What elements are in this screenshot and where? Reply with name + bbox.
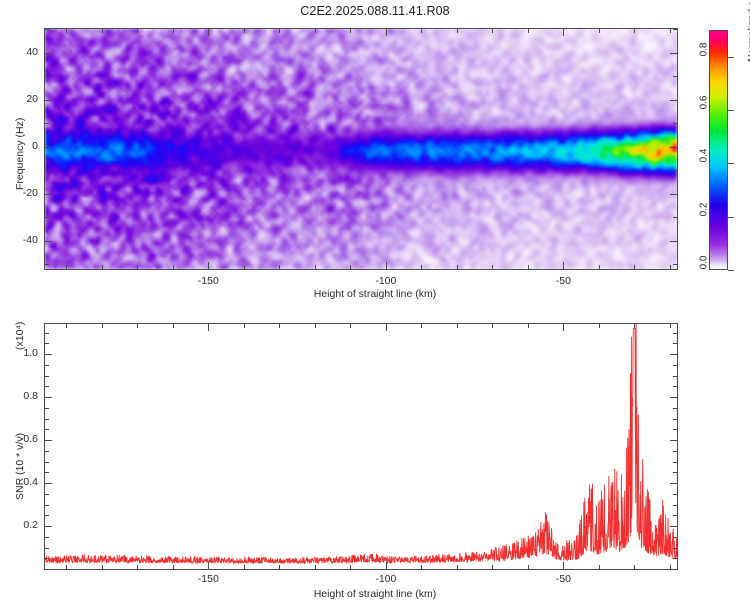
snr-y-tick-label: 0.8 <box>4 390 38 402</box>
colorbar-tick-label: 0.4 <box>699 149 710 175</box>
snr-y-tick-right <box>673 515 677 516</box>
spectrogram-x-tick-label: -150 <box>178 275 238 287</box>
snr-x-tick-label: -50 <box>533 573 593 585</box>
snr-x-tick <box>457 565 458 569</box>
snr-y-tick <box>45 386 49 387</box>
snr-x-tick <box>599 565 600 569</box>
spectrogram-y-tick <box>45 53 52 54</box>
snr-x-tick <box>208 562 209 569</box>
snr-plot-svg <box>45 324 677 569</box>
spectrogram-x-tick-top <box>421 29 422 33</box>
spectrogram-x-tick-label: -100 <box>356 275 416 287</box>
spectrogram-x-tick-top <box>137 29 138 33</box>
colorbar-tick <box>728 163 734 164</box>
spectrogram-canvas <box>45 29 677 269</box>
snr-y-tick <box>45 343 49 344</box>
spectrogram-y-tick <box>45 170 49 171</box>
spectrogram-y-tick-right <box>670 53 677 54</box>
spectrogram-x-tick-top <box>279 29 280 33</box>
spectrogram-y-tick <box>45 76 49 77</box>
snr-y-tick-right <box>673 343 677 344</box>
snr-y-tick-right <box>670 526 677 527</box>
snr-y-tick-right <box>673 451 677 452</box>
snr-x-tick <box>670 565 671 569</box>
snr-x-tick <box>279 565 280 569</box>
spectrogram-x-tick <box>670 265 671 269</box>
colorbar-tick-label: 0.6 <box>699 96 710 122</box>
spectrogram-x-tick <box>350 265 351 269</box>
snr-y-tick <box>45 440 52 441</box>
snr-x-tick <box>563 562 564 569</box>
snr-x-tick <box>528 565 529 569</box>
spectrogram-y-tick-right <box>673 170 677 171</box>
colorbar-tick-label: 0.0 <box>699 256 710 282</box>
colorbar-title: Normalized spectral amplitude <box>746 0 750 62</box>
figure-root: C2E2.2025.088.11.41.R08 -150-100-50 -40-… <box>0 0 750 600</box>
spectrogram-y-tick-right <box>673 29 677 30</box>
snr-x-tick <box>386 562 387 569</box>
snr-x-tick-top <box>137 324 138 328</box>
snr-y-tick <box>45 569 49 570</box>
snr-x-tick-top <box>386 324 387 331</box>
snr-y-tick-right <box>670 397 677 398</box>
snr-y-tick <box>45 354 52 355</box>
spectrogram-x-tick <box>386 262 387 269</box>
snr-y-tick <box>45 451 49 452</box>
snr-y-tick-right <box>670 354 677 355</box>
snr-y-tick-right <box>673 472 677 473</box>
colorbar-tick <box>728 217 734 218</box>
spectrogram-x-tick-top <box>386 29 387 36</box>
snr-y-tick-right <box>673 462 677 463</box>
spectrogram-y-tick-right <box>673 76 677 77</box>
snr-x-tick-top <box>670 324 671 328</box>
snr-x-tick-top <box>421 324 422 328</box>
snr-x-tick-top <box>563 324 564 331</box>
snr-y-tick <box>45 429 49 430</box>
spectrogram-y-tick <box>45 29 49 30</box>
spectrogram-x-tick-top <box>492 29 493 33</box>
spectrogram-panel <box>44 28 678 270</box>
snr-y-tick-right <box>673 408 677 409</box>
snr-y-tick-right <box>673 376 677 377</box>
spectrogram-x-tick <box>492 265 493 269</box>
spectrogram-x-tick-top <box>350 29 351 33</box>
spectrogram-y-tick-right <box>673 217 677 218</box>
spectrogram-y-tick <box>45 217 49 218</box>
spectrogram-x-tick <box>599 265 600 269</box>
snr-y-tick-right <box>673 569 677 570</box>
snr-x-axis-title: Height of straight line (km) <box>314 588 437 600</box>
snr-x-tick <box>102 565 103 569</box>
snr-y-tick-right <box>670 440 677 441</box>
snr-y-tick-right <box>673 548 677 549</box>
snr-y-axis-multiplier: (x10⁴) <box>14 322 26 350</box>
snr-y-tick-right <box>673 386 677 387</box>
spectrogram-x-tick-top <box>173 29 174 33</box>
snr-y-tick-right <box>673 558 677 559</box>
snr-y-tick <box>45 472 49 473</box>
snr-y-tick <box>45 548 49 549</box>
colorbar-tick <box>728 57 734 58</box>
spectrogram-x-tick <box>528 265 529 269</box>
spectrogram-x-tick <box>634 265 635 269</box>
snr-x-tick-top <box>599 324 600 328</box>
spectrogram-x-tick <box>208 262 209 269</box>
spectrogram-x-axis-title: Height of straight line (km) <box>314 288 437 300</box>
snr-x-tick-top <box>492 324 493 328</box>
snr-y-tick-right <box>673 429 677 430</box>
snr-y-tick <box>45 515 49 516</box>
snr-trace-line <box>45 324 677 563</box>
snr-x-tick-top <box>279 324 280 328</box>
spectrogram-x-tick <box>563 262 564 269</box>
snr-x-tick-label: -150 <box>178 573 238 585</box>
spectrogram-x-tick-top <box>208 29 209 36</box>
colorbar-tick-label: 0.2 <box>699 202 710 228</box>
snr-panel <box>44 323 678 570</box>
snr-x-tick-top <box>634 324 635 328</box>
snr-x-tick <box>634 565 635 569</box>
spectrogram-y-tick-right <box>670 194 677 195</box>
snr-y-tick-right <box>673 505 677 506</box>
snr-x-tick <box>421 565 422 569</box>
spectrogram-x-tick-top <box>599 29 600 33</box>
snr-y-tick <box>45 558 49 559</box>
snr-y-tick <box>45 483 52 484</box>
colorbar-tick <box>728 270 734 271</box>
snr-x-tick-label: -100 <box>356 573 416 585</box>
figure-title: C2E2.2025.088.11.41.R08 <box>0 4 750 18</box>
spectrogram-y-tick-right <box>670 147 677 148</box>
spectrogram-x-tick-top <box>244 29 245 33</box>
snr-y-tick <box>45 505 49 506</box>
colorbar-tick-label: 0.8 <box>699 42 710 68</box>
spectrogram-x-tick <box>457 265 458 269</box>
snr-y-tick-right <box>673 494 677 495</box>
snr-y-tick-right <box>673 419 677 420</box>
spectrogram-y-tick-label: 20 <box>4 93 38 105</box>
snr-y-tick <box>45 537 49 538</box>
snr-x-tick-top <box>528 324 529 328</box>
colorbar-tick <box>728 110 734 111</box>
snr-x-tick <box>244 565 245 569</box>
spectrogram-x-tick-top <box>102 29 103 33</box>
snr-y-tick-right <box>673 537 677 538</box>
spectrogram-x-tick <box>244 265 245 269</box>
snr-x-tick-top <box>244 324 245 328</box>
snr-y-axis-title: SNR (10 * v/v) <box>14 433 26 500</box>
snr-y-tick <box>45 526 52 527</box>
spectrogram-x-tick-top <box>670 29 671 33</box>
snr-x-tick <box>66 565 67 569</box>
spectrogram-x-tick <box>173 265 174 269</box>
spectrogram-x-tick <box>137 265 138 269</box>
snr-y-tick <box>45 462 49 463</box>
snr-x-tick <box>350 565 351 569</box>
spectrogram-x-tick <box>279 265 280 269</box>
snr-x-tick-top <box>102 324 103 328</box>
snr-y-tick-right <box>673 365 677 366</box>
spectrogram-y-tick <box>45 264 49 265</box>
snr-y-tick-label: 0.2 <box>4 519 38 531</box>
spectrogram-y-tick-right <box>673 123 677 124</box>
spectrogram-y-tick <box>45 100 52 101</box>
snr-y-tick <box>45 333 49 334</box>
spectrogram-y-axis-title: Frequency (Hz) <box>14 118 26 190</box>
snr-x-tick-top <box>350 324 351 328</box>
spectrogram-x-tick-top <box>634 29 635 33</box>
snr-y-tick <box>45 365 49 366</box>
snr-y-tick <box>45 419 49 420</box>
spectrogram-x-tick-top <box>528 29 529 33</box>
spectrogram-x-tick-top <box>457 29 458 33</box>
snr-x-tick <box>492 565 493 569</box>
spectrogram-y-tick-right <box>670 241 677 242</box>
spectrogram-x-tick-top <box>563 29 564 36</box>
spectrogram-y-tick <box>45 241 52 242</box>
snr-x-tick-top <box>66 324 67 328</box>
snr-y-tick-right <box>673 333 677 334</box>
spectrogram-y-tick-label: -40 <box>4 234 38 246</box>
snr-y-tick <box>45 408 49 409</box>
snr-y-tick-right <box>670 483 677 484</box>
spectrogram-y-tick-right <box>670 100 677 101</box>
spectrogram-x-tick <box>421 265 422 269</box>
spectrogram-y-tick <box>45 194 52 195</box>
snr-x-tick-top <box>173 324 174 328</box>
spectrogram-y-tick <box>45 147 52 148</box>
snr-x-tick <box>315 565 316 569</box>
spectrogram-x-tick <box>66 265 67 269</box>
spectrogram-y-tick-label: 40 <box>4 46 38 58</box>
spectrogram-x-tick <box>315 265 316 269</box>
snr-y-tick <box>45 494 49 495</box>
spectrogram-x-tick-label: -50 <box>533 275 593 287</box>
snr-x-tick <box>173 565 174 569</box>
colorbar-gradient <box>709 30 728 270</box>
snr-y-tick <box>45 376 49 377</box>
spectrogram-x-tick <box>102 265 103 269</box>
spectrogram-y-tick <box>45 123 49 124</box>
snr-x-tick-top <box>457 324 458 328</box>
spectrogram-y-tick-right <box>673 264 677 265</box>
snr-x-tick-top <box>315 324 316 328</box>
spectrogram-x-tick-top <box>66 29 67 33</box>
snr-x-tick-top <box>208 324 209 331</box>
spectrogram-x-tick-top <box>315 29 316 33</box>
snr-x-tick <box>137 565 138 569</box>
snr-y-tick <box>45 397 52 398</box>
